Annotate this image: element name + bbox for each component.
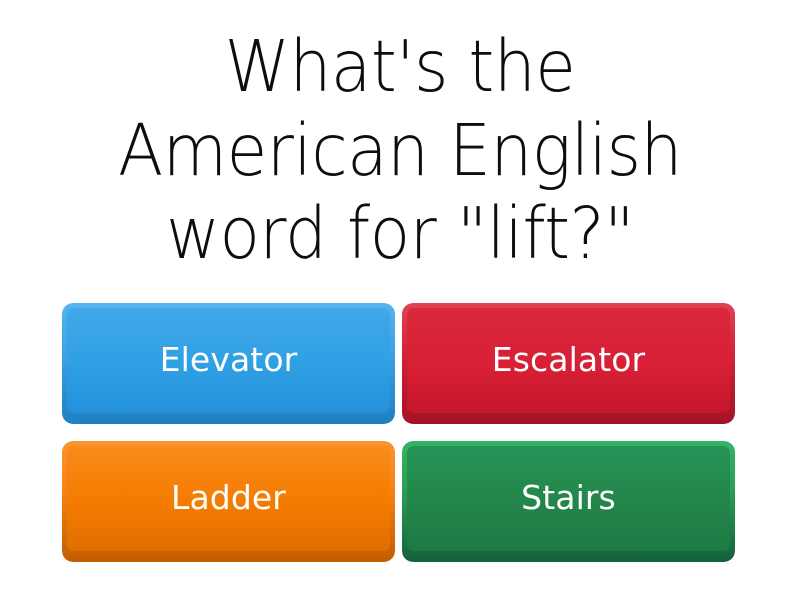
answer-option-ladder[interactable]: Ladder: [62, 441, 395, 562]
answer-options-grid: Elevator Escalator Ladder Stairs: [62, 303, 735, 562]
answer-option-stairs[interactable]: Stairs: [402, 441, 735, 562]
quiz-screen: What's the American English word for "li…: [0, 0, 800, 600]
answer-option-label: Stairs: [402, 441, 735, 562]
answer-option-escalator[interactable]: Escalator: [402, 303, 735, 424]
question-area: What's the American English word for "li…: [0, 8, 800, 293]
answer-option-label: Ladder: [62, 441, 395, 562]
answer-option-label: Escalator: [402, 303, 735, 424]
answer-option-elevator[interactable]: Elevator: [62, 303, 395, 424]
question-text: What's the American English word for "li…: [61, 25, 740, 276]
answer-option-label: Elevator: [62, 303, 395, 424]
